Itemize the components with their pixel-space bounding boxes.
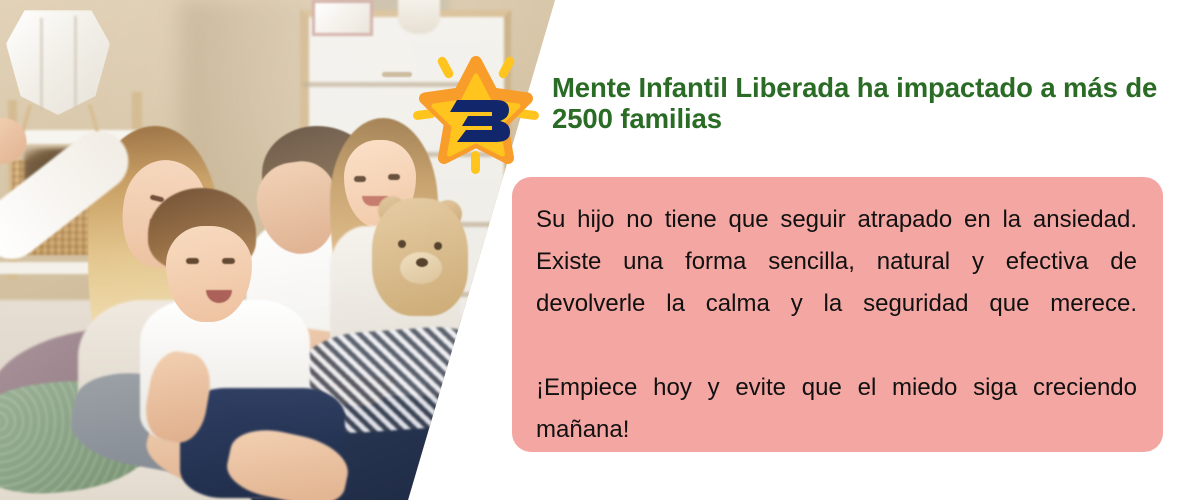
boy-eye (222, 258, 235, 264)
teddy-muzzle (400, 252, 442, 284)
drawer-handle (382, 72, 412, 77)
girl-eye (354, 176, 366, 182)
girl-eye (388, 174, 400, 180)
star-badge-icon (410, 48, 542, 180)
teddy-eye (398, 240, 406, 248)
lamp-facet (74, 16, 77, 108)
toy (438, 362, 508, 396)
plant (455, 318, 515, 378)
promo-banner: Mente Infantil Liberada ha impactado a m… (0, 0, 1200, 500)
teddy-eye (434, 242, 442, 250)
lamp-facet (40, 18, 43, 110)
promo-paragraph-2: ¡Empiece hoy y evite que el miedo siga c… (536, 367, 1137, 493)
promo-paragraph-1: Su hijo no tiene que seguir atrapado en … (536, 199, 1137, 367)
promo-text-panel: Su hijo no tiene que seguir atrapado en … (512, 177, 1163, 452)
teddy-nose (416, 258, 428, 267)
boy-eye (186, 258, 199, 264)
page-title: Mente Infantil Liberada ha impactado a m… (552, 72, 1192, 134)
vase (398, 0, 440, 34)
picture-frame (312, 0, 373, 36)
